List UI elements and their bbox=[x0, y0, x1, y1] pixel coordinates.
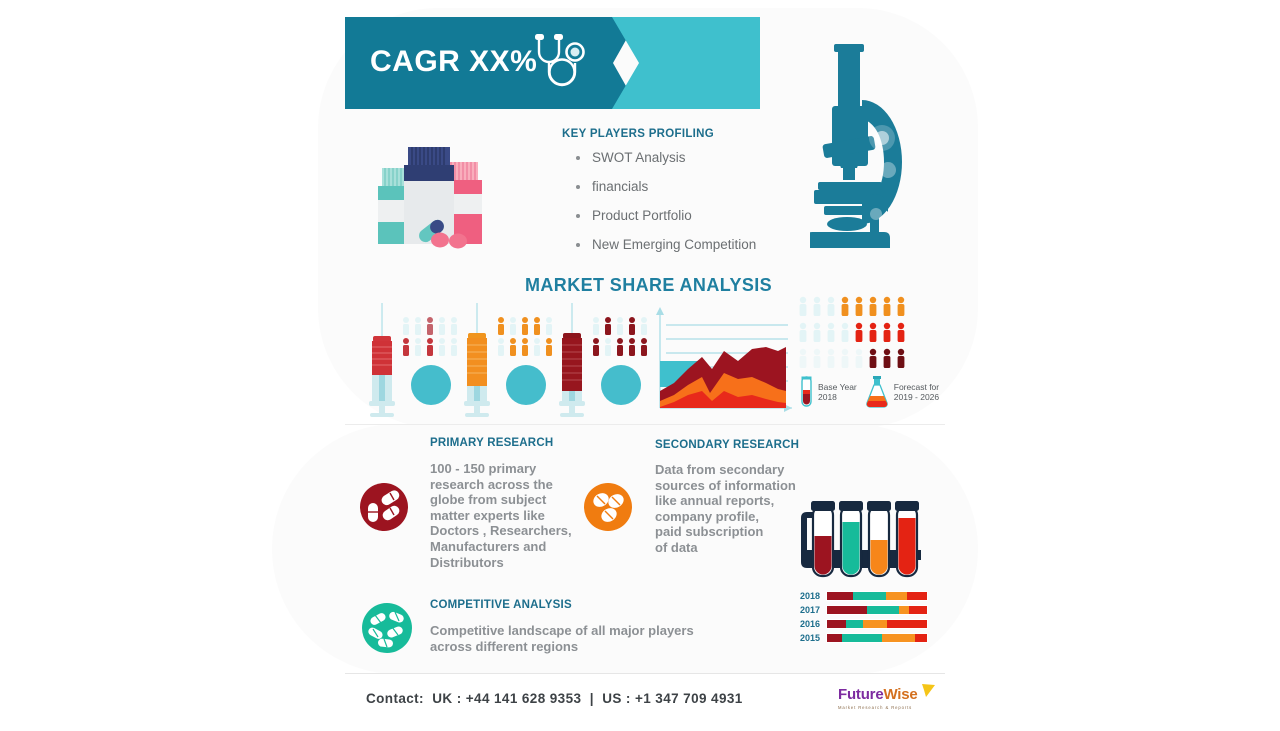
bar-segment bbox=[915, 634, 927, 642]
logo-tagline: Market Research & Reports bbox=[838, 705, 938, 710]
stethoscope-icon bbox=[530, 31, 598, 96]
contact-us: US : +1 347 709 4931 bbox=[602, 691, 742, 706]
contact-separator: | bbox=[590, 691, 594, 706]
primary-research-body: 100 - 150 primary research across the gl… bbox=[430, 461, 610, 570]
footer-divider bbox=[345, 673, 945, 674]
market-trend-area-chart bbox=[652, 303, 802, 415]
bar-segment bbox=[827, 620, 846, 628]
bar-segment bbox=[827, 592, 853, 600]
list-item: SWOT Analysis bbox=[570, 150, 756, 166]
secondary-research-body: Data from secondary sources of informati… bbox=[655, 462, 805, 556]
bar-segment bbox=[842, 634, 882, 642]
cagr-label: CAGR XX% bbox=[370, 45, 537, 79]
bar-segment bbox=[863, 620, 887, 628]
table-row: 2018 bbox=[800, 590, 928, 602]
legend-line1: Forecast for bbox=[894, 382, 939, 393]
market-share-legend: Base Year 2018 Forecast for 2019 - 2026 bbox=[800, 376, 939, 408]
secondary-research-pills-icon bbox=[584, 483, 632, 531]
competitive-analysis-body: Competitive landscape of all major playe… bbox=[430, 623, 720, 654]
yearly-share-bar-chart: 2018 2017 2016 bbox=[800, 590, 928, 646]
legend-line1: Base Year bbox=[818, 382, 857, 393]
bar-track bbox=[826, 591, 928, 601]
bar-track bbox=[826, 619, 928, 629]
competitive-analysis-title: COMPETITIVE ANALYSIS bbox=[430, 599, 572, 611]
table-row: 2016 bbox=[800, 618, 928, 630]
cagr-banner: CAGR XX% bbox=[345, 17, 760, 109]
test-tube-rack-icon bbox=[797, 492, 925, 580]
bar-segment bbox=[909, 606, 927, 614]
list-item: Product Portfolio bbox=[570, 208, 756, 224]
contact-uk: UK : +44 141 628 9353 bbox=[432, 691, 581, 706]
logo-flag-icon bbox=[922, 684, 936, 700]
primary-research-pills-icon bbox=[360, 483, 408, 531]
table-row: 2017 bbox=[800, 604, 928, 616]
test-tube-icon bbox=[800, 376, 813, 408]
market-share-title: MARKET SHARE ANALYSIS bbox=[525, 275, 772, 296]
bar-segment bbox=[907, 592, 927, 600]
bar-track bbox=[826, 605, 928, 615]
population-share-grid bbox=[797, 296, 917, 372]
bar-year-label: 2016 bbox=[800, 618, 826, 630]
legend-forecast-label: Forecast for 2019 - 2026 bbox=[894, 382, 939, 403]
syringes-chart-icon bbox=[358, 303, 648, 418]
logo-part-future: Future bbox=[838, 686, 883, 703]
bar-year-label: 2017 bbox=[800, 604, 826, 616]
bar-segment bbox=[827, 634, 842, 642]
bar-segment bbox=[867, 606, 899, 614]
infographic-page: CAGR XX% bbox=[0, 0, 1280, 731]
bar-segment bbox=[886, 592, 907, 600]
key-players-list: SWOT Analysis financials Product Portfol… bbox=[570, 150, 756, 266]
bar-segment bbox=[846, 620, 863, 628]
legend-line2: 2018 bbox=[818, 392, 857, 403]
bar-year-label: 2015 bbox=[800, 632, 826, 644]
legend-item-forecast: Forecast for 2019 - 2026 bbox=[865, 376, 939, 408]
bar-segment bbox=[853, 592, 886, 600]
bar-segment bbox=[882, 634, 915, 642]
legend-line2: 2019 - 2026 bbox=[894, 392, 939, 403]
bar-year-label: 2018 bbox=[800, 590, 826, 602]
table-row: 2015 bbox=[800, 632, 928, 644]
section-divider bbox=[345, 424, 945, 425]
competitive-analysis-capsules-icon bbox=[362, 603, 412, 653]
bar-segment bbox=[899, 606, 909, 614]
medicine-bottles-icon bbox=[368, 138, 490, 256]
futurewise-logo[interactable]: FutureWise Market Research & Reports bbox=[838, 687, 938, 710]
microscope-icon bbox=[810, 18, 930, 258]
bar-track bbox=[826, 633, 928, 643]
list-item: New Emerging Competition bbox=[570, 237, 756, 253]
logo-part-wise: Wise bbox=[883, 686, 917, 703]
contact-label: Contact: bbox=[366, 691, 424, 706]
legend-base-year-label: Base Year 2018 bbox=[818, 382, 857, 403]
flask-icon bbox=[865, 376, 889, 408]
contact-line: Contact: UK : +44 141 628 9353 | US : +1… bbox=[366, 691, 743, 706]
bar-segment bbox=[827, 606, 867, 614]
legend-item-base-year: Base Year 2018 bbox=[800, 376, 857, 408]
key-players-title: KEY PLAYERS PROFILING bbox=[562, 128, 714, 140]
bar-segment bbox=[887, 620, 927, 628]
primary-research-title: PRIMARY RESEARCH bbox=[430, 437, 553, 449]
secondary-research-title: SECONDARY RESEARCH bbox=[655, 439, 799, 451]
list-item: financials bbox=[570, 179, 756, 195]
